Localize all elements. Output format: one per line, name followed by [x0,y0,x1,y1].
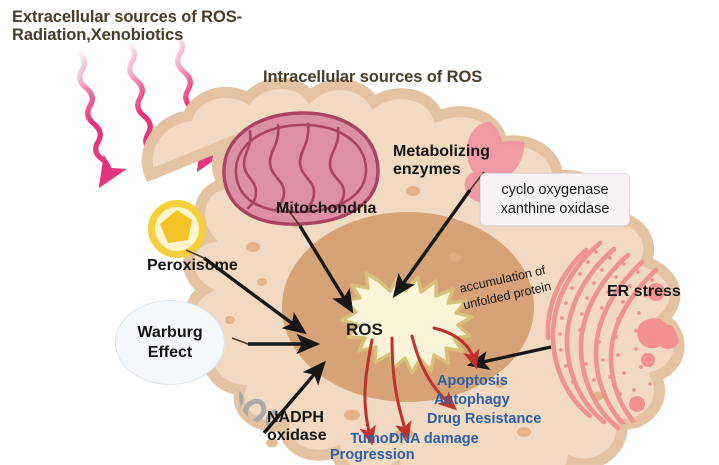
label-ros: ROS [346,320,383,339]
outcome-apoptosis: Apoptosis [437,373,508,389]
heading-intracellular: Intracellular sources of ROS [263,68,482,86]
label-mitochondria: Mitochondria [276,200,376,218]
callout-line-1: cyclo oxygenase [487,181,623,200]
outcome-drug-resistance: Drug Resistance [427,411,541,427]
ros-cell-diagram: Extracellular sources of ROS- Radiation,… [0,0,719,465]
peroxisome [148,200,206,258]
warburg-effect-bubble: Warburg Effect [115,300,225,385]
label-metabolizing-enzymes: Metabolizing enzymes [393,143,490,179]
label-peroxisome: Peroxisome [147,257,238,275]
outcome-tumor-progression: Tumor Progression [330,431,415,463]
heading-extracellular: Extracellular sources of ROS- Radiation,… [12,8,242,45]
callout-box-enzymes: cyclo oxygenase xanthine oxidase [480,173,630,226]
label-nadph-oxidase: NADPH oxidase [267,409,327,445]
outcome-autophagy: Autophagy [434,392,510,408]
callout-line-2: xanthine oxidase [487,200,623,219]
label-warburg-effect: Warburg Effect [116,323,224,361]
label-er-stress: ER stress [607,283,681,301]
